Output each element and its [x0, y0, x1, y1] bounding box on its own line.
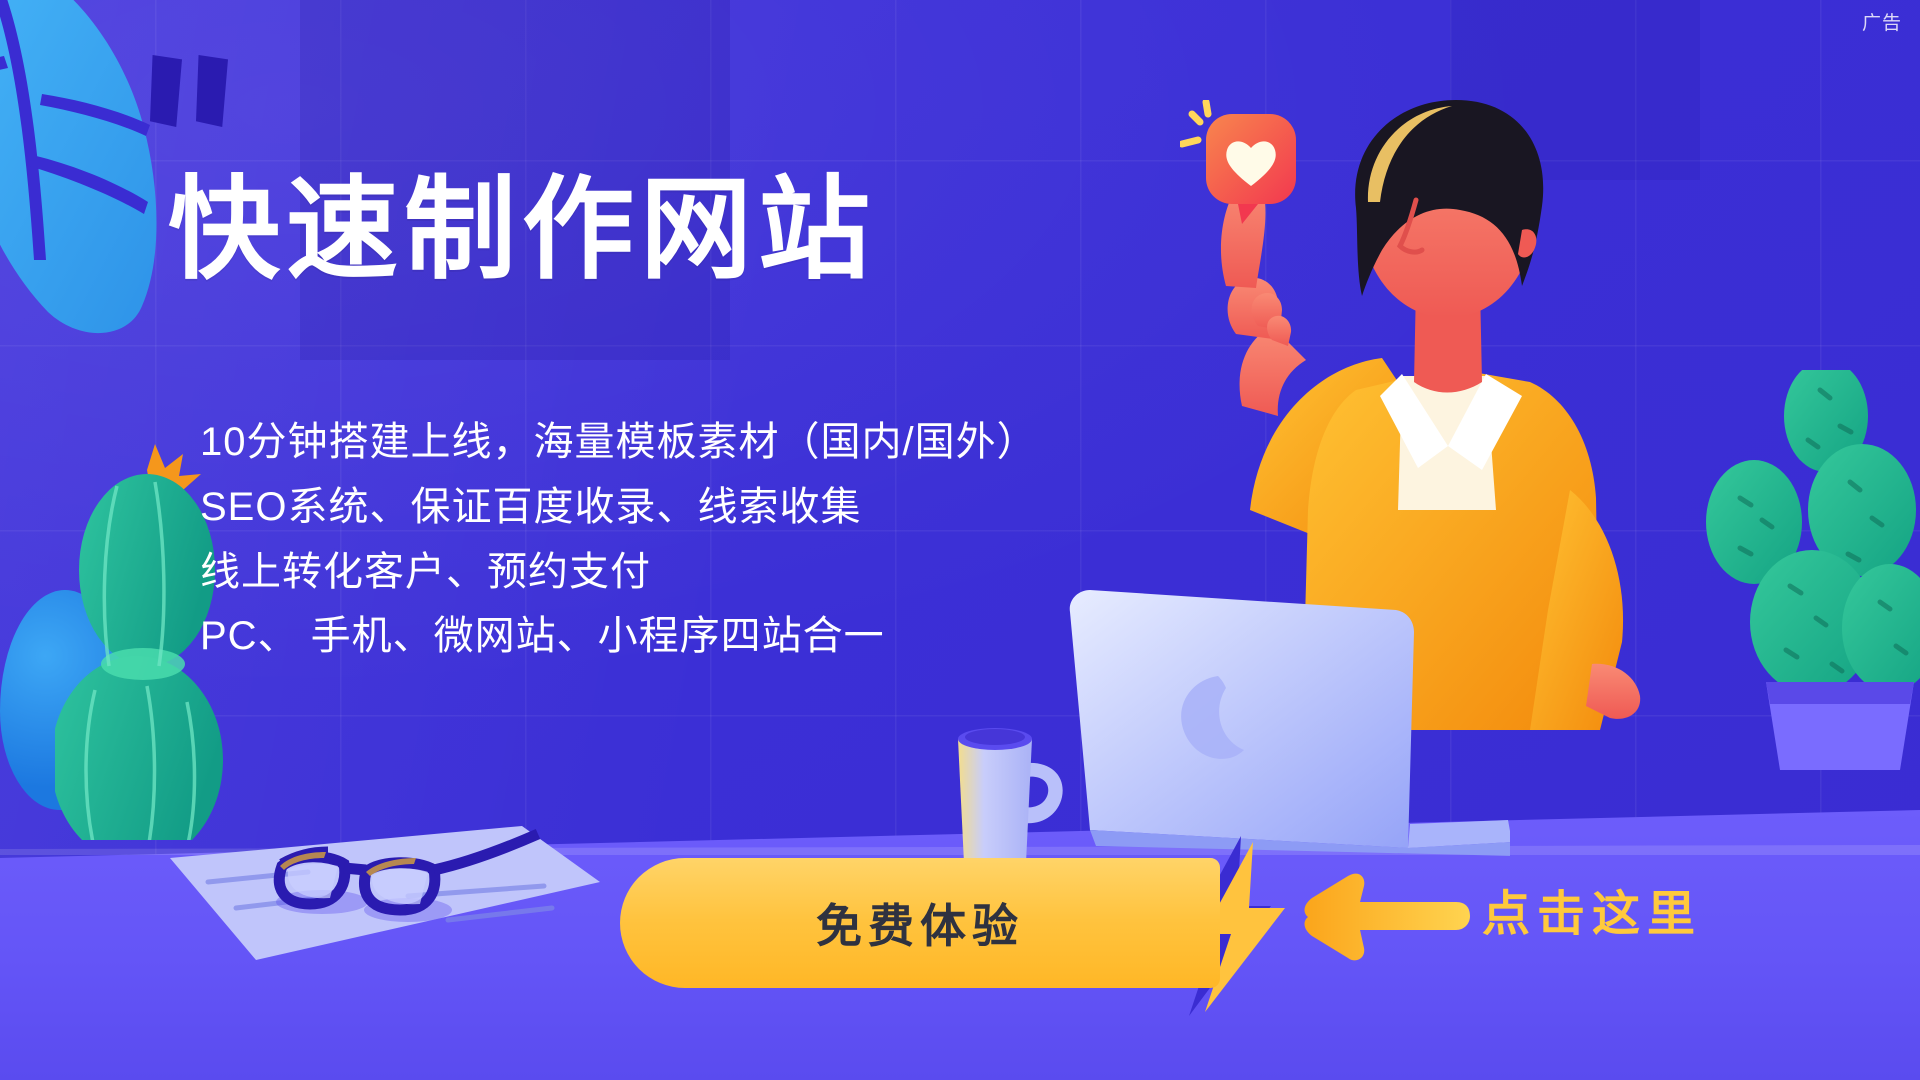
- advertisement-banner[interactable]: 快速制作网站 10分钟搭建上线，海量模板素材（国内/国外） SEO系统、保证百度…: [0, 0, 1920, 1080]
- potted-cactus-icon: [1700, 370, 1920, 770]
- coffee-mug-icon: [940, 715, 1070, 875]
- feature-line: 10分钟搭建上线，海量模板素材（国内/国外）: [200, 410, 1160, 475]
- cta-area[interactable]: 免费体验: [620, 858, 1320, 993]
- free-trial-button[interactable]: 免费体验: [620, 858, 1220, 988]
- page-title: 快速制作网站: [168, 168, 876, 291]
- quote-mark-icon: [150, 55, 240, 130]
- feature-list: 10分钟搭建上线，海量模板素材（国内/国外） SEO系统、保证百度收录、线索收集…: [200, 410, 1160, 669]
- heart-notification-icon: [1180, 100, 1310, 240]
- document-with-glasses-icon: [170, 790, 600, 970]
- feature-line: PC、 手机、微网站、小程序四站合一: [200, 604, 1160, 669]
- feature-line: 线上转化客户、预约支付: [200, 540, 1160, 605]
- cta-button-label: 免费体验: [816, 890, 1024, 956]
- ad-disclosure-label: 广告: [1862, 8, 1902, 35]
- left-arrow-icon: [1300, 872, 1470, 962]
- feature-line: SEO系统、保证百度收录、线索收集: [200, 475, 1160, 540]
- click-here-hint[interactable]: 点击这里: [1482, 874, 1702, 944]
